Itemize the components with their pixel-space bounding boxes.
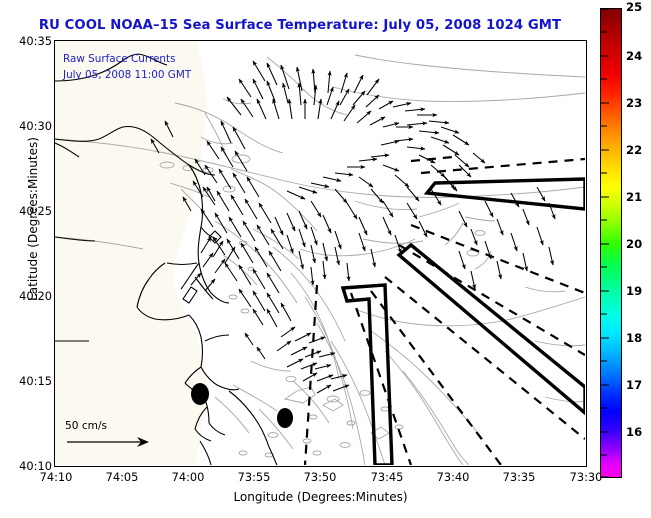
xtick-label: 73:35 <box>503 470 536 484</box>
colorbar-tick <box>600 103 609 104</box>
colorbar-tick-label: 22 <box>626 143 642 157</box>
map-vector-graphics <box>55 41 585 465</box>
colorbar-tick <box>600 432 609 433</box>
vector-scale-key: 50 cm/s <box>65 420 161 452</box>
sst-map-figure: RU COOL NOAA–15 Sea Surface Temperature:… <box>0 0 651 518</box>
page-title: RU COOL NOAA–15 Sea Surface Temperature:… <box>0 18 600 33</box>
colorbar-minor-tick <box>600 361 607 362</box>
colorbar-minor-tick <box>600 314 607 315</box>
colorbar-tick-label: 19 <box>626 284 642 298</box>
station-marker <box>191 383 209 405</box>
ytick-label: 40:10 <box>19 459 52 473</box>
colorbar-minor-tick <box>600 32 607 33</box>
xtick-label: 74:05 <box>106 470 139 484</box>
right-arrow-icon <box>65 434 157 448</box>
x-axis-title: Longitude (Degrees:Minutes) <box>54 490 587 504</box>
colorbar-tick-label: 21 <box>626 190 642 204</box>
colorbar-minor-tick <box>600 173 607 174</box>
colorbar-tick <box>600 244 609 245</box>
colorbar-minor-tick <box>600 267 607 268</box>
colorbar-minor-tick <box>600 79 607 80</box>
colorbar-tick-label: 24 <box>626 49 642 63</box>
colorbar-tick <box>600 56 609 57</box>
colorbar-tick-label: 20 <box>626 237 642 251</box>
map-plot-area[interactable]: Raw Surface Currents July 05, 2008 11:00… <box>54 40 587 467</box>
colorbar-tick <box>600 291 609 292</box>
ytick-label: 40:15 <box>19 374 52 388</box>
y-axis-title: Latitude (Degrees:Minutes) <box>26 104 40 334</box>
xtick-label: 73:45 <box>371 470 404 484</box>
colorbar-tick-label: 17 <box>626 378 642 392</box>
colorbar-minor-tick <box>600 455 607 456</box>
colorbar-tick <box>600 9 609 10</box>
vector-scale-label: 50 cm/s <box>65 420 161 432</box>
colorbar-tick <box>600 338 609 339</box>
colorbar-tick <box>600 477 609 478</box>
colorbar-tick-label: 25 <box>626 0 642 14</box>
shoal-polygon-layer <box>160 155 485 457</box>
colorbar-minor-tick <box>600 220 607 221</box>
xtick-label: 73:30 <box>570 470 603 484</box>
xtick-label: 73:50 <box>304 470 337 484</box>
colorbar-tick <box>600 385 609 386</box>
colorbar-tick-label: 16 <box>626 425 642 439</box>
ytick-label: 40:35 <box>19 34 52 48</box>
colorbar-minor-tick <box>600 126 607 127</box>
colorbar-minor-tick <box>600 408 607 409</box>
current-vector-layer <box>151 61 555 393</box>
colorbar-tick <box>600 197 609 198</box>
station-marker <box>277 408 293 428</box>
colorbar-tick-label: 23 <box>626 96 642 110</box>
xtick-label: 73:40 <box>437 470 470 484</box>
colorbar-tick <box>600 150 609 151</box>
land-fill-layer <box>55 41 207 465</box>
xtick-label: 74:00 <box>172 470 205 484</box>
xtick-label: 73:55 <box>238 470 271 484</box>
colorbar-tick-label: 18 <box>626 331 642 345</box>
